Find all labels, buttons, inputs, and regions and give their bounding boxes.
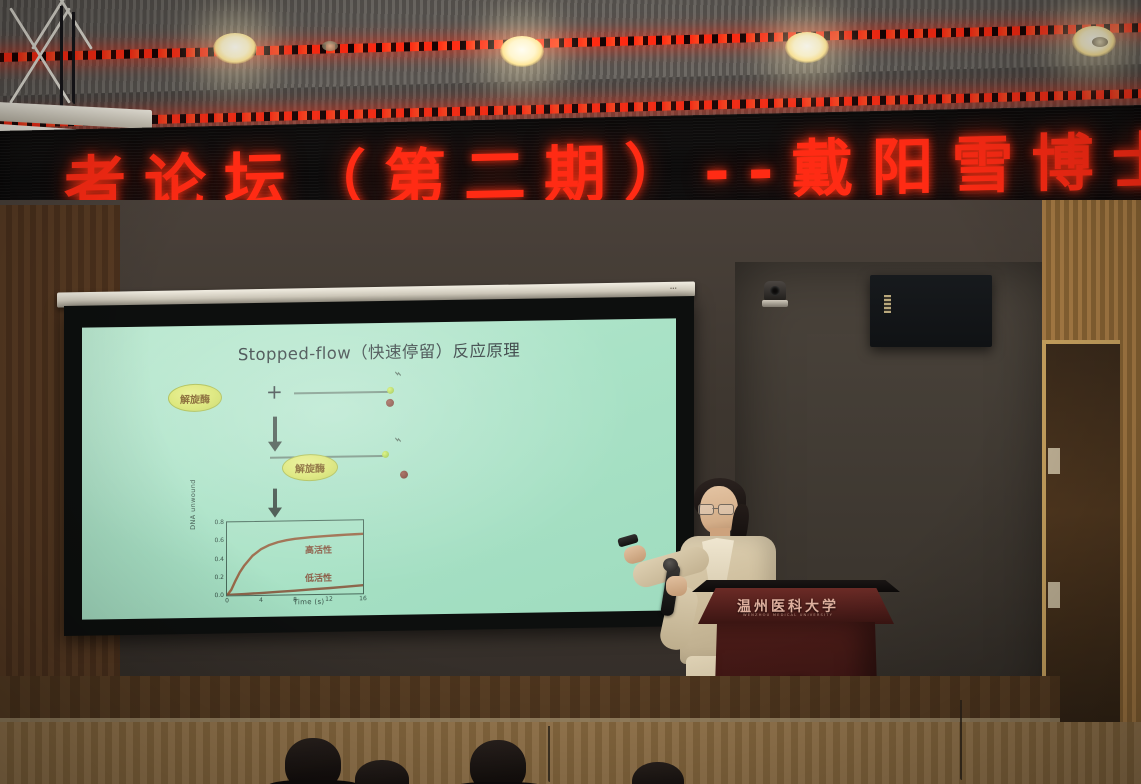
fluorescence-spark-bottom: ⌁	[392, 432, 404, 449]
chart-ytick-3: 0.6	[214, 537, 224, 544]
chart-series-svg	[227, 520, 363, 595]
ceiling-light-2	[500, 36, 544, 67]
slide-title: Stopped-flow（快速停留）反应原理	[82, 334, 676, 367]
chart-xtick-3: 12	[325, 596, 333, 603]
lecture-hall-photo: 者论坛（第二期）--戴阳雪博士 ▪▪▪ Stopped-flow（快速停留）反应…	[0, 0, 1141, 784]
chart-xtick-2: 8	[293, 596, 297, 603]
door-plate-lower	[1048, 582, 1060, 608]
quencher-dot-bottom	[400, 471, 408, 479]
kinetics-chart: DNA unwound 0.0 0.2 0.4 0.6 0.8 0 4 8 12…	[194, 513, 372, 614]
chart-x-axis-label: Time (s)	[194, 597, 398, 608]
quencher-dot-top	[386, 399, 394, 407]
reaction-arrow-1	[273, 417, 277, 443]
audience-head-1	[285, 738, 341, 784]
ptz-camera	[762, 281, 788, 311]
chart-y-axis-label: DNA unwound	[189, 479, 197, 530]
helicase-label-top: 解旋酶	[180, 390, 210, 405]
chart-ytick-1: 0.2	[214, 574, 224, 581]
speaker-grille-badge	[884, 295, 891, 313]
chart-annotation-low: 低活性	[305, 571, 332, 584]
chart-xtick-4: 16	[359, 595, 367, 602]
roller-brand-tag: ▪▪▪	[670, 286, 677, 292]
ceiling-microphone-icon	[322, 41, 338, 51]
chart-ytick-4: 0.8	[214, 519, 224, 526]
door-plate-upper	[1048, 448, 1060, 474]
chart-annotation-high: 高活性	[305, 543, 332, 556]
chart-ytick-2: 0.4	[214, 555, 224, 562]
chart-xtick-1: 4	[259, 597, 263, 604]
ceiling-light-3	[785, 32, 829, 63]
chart-plot-area: 0.0 0.2 0.4 0.6 0.8 0 4 8 12 16 高活性 低活性	[226, 519, 364, 596]
dna-strand-line-bottom	[270, 455, 386, 458]
audience-shoulder-1	[268, 780, 360, 784]
audience-head-3	[470, 740, 526, 784]
ceiling-sensor-icon	[1092, 37, 1108, 47]
presentation-slide: Stopped-flow（快速停留）反应原理 解旋酶 + ⌁ 解旋酶 ⌁	[82, 318, 676, 619]
podium-header-panel: 温州医科大学 WENZHOU MEDICAL UNIVERSITY	[698, 588, 894, 624]
helicase-ellipse-bottom: 解旋酶	[282, 454, 338, 482]
helicase-label-bottom: 解旋酶	[295, 460, 325, 475]
chart-xtick-0: 0	[225, 597, 229, 604]
podium-university-name-en: WENZHOU MEDICAL UNIVERSITY	[698, 613, 878, 617]
reaction-arrow-2	[273, 489, 277, 509]
fluorophore-dot-bottom	[382, 451, 389, 458]
presenter-hand-mic	[666, 576, 687, 596]
dna-duplex-line-top	[294, 391, 390, 394]
presenter-glasses	[698, 504, 736, 514]
fluorophore-dot-top	[387, 387, 394, 394]
floor-cable-2	[960, 700, 962, 780]
floor-cable	[548, 726, 550, 782]
floor	[0, 722, 1141, 784]
camera-lens-icon	[770, 286, 780, 296]
projection-screen: Stopped-flow（快速停留）反应原理 解旋酶 + ⌁ 解旋酶 ⌁	[64, 296, 694, 636]
chart-ytick-0: 0.0	[214, 592, 224, 599]
plus-sign: +	[266, 380, 283, 404]
fluorescence-spark-top: ⌁	[392, 366, 404, 383]
helicase-ellipse-top: 解旋酶	[168, 383, 222, 412]
